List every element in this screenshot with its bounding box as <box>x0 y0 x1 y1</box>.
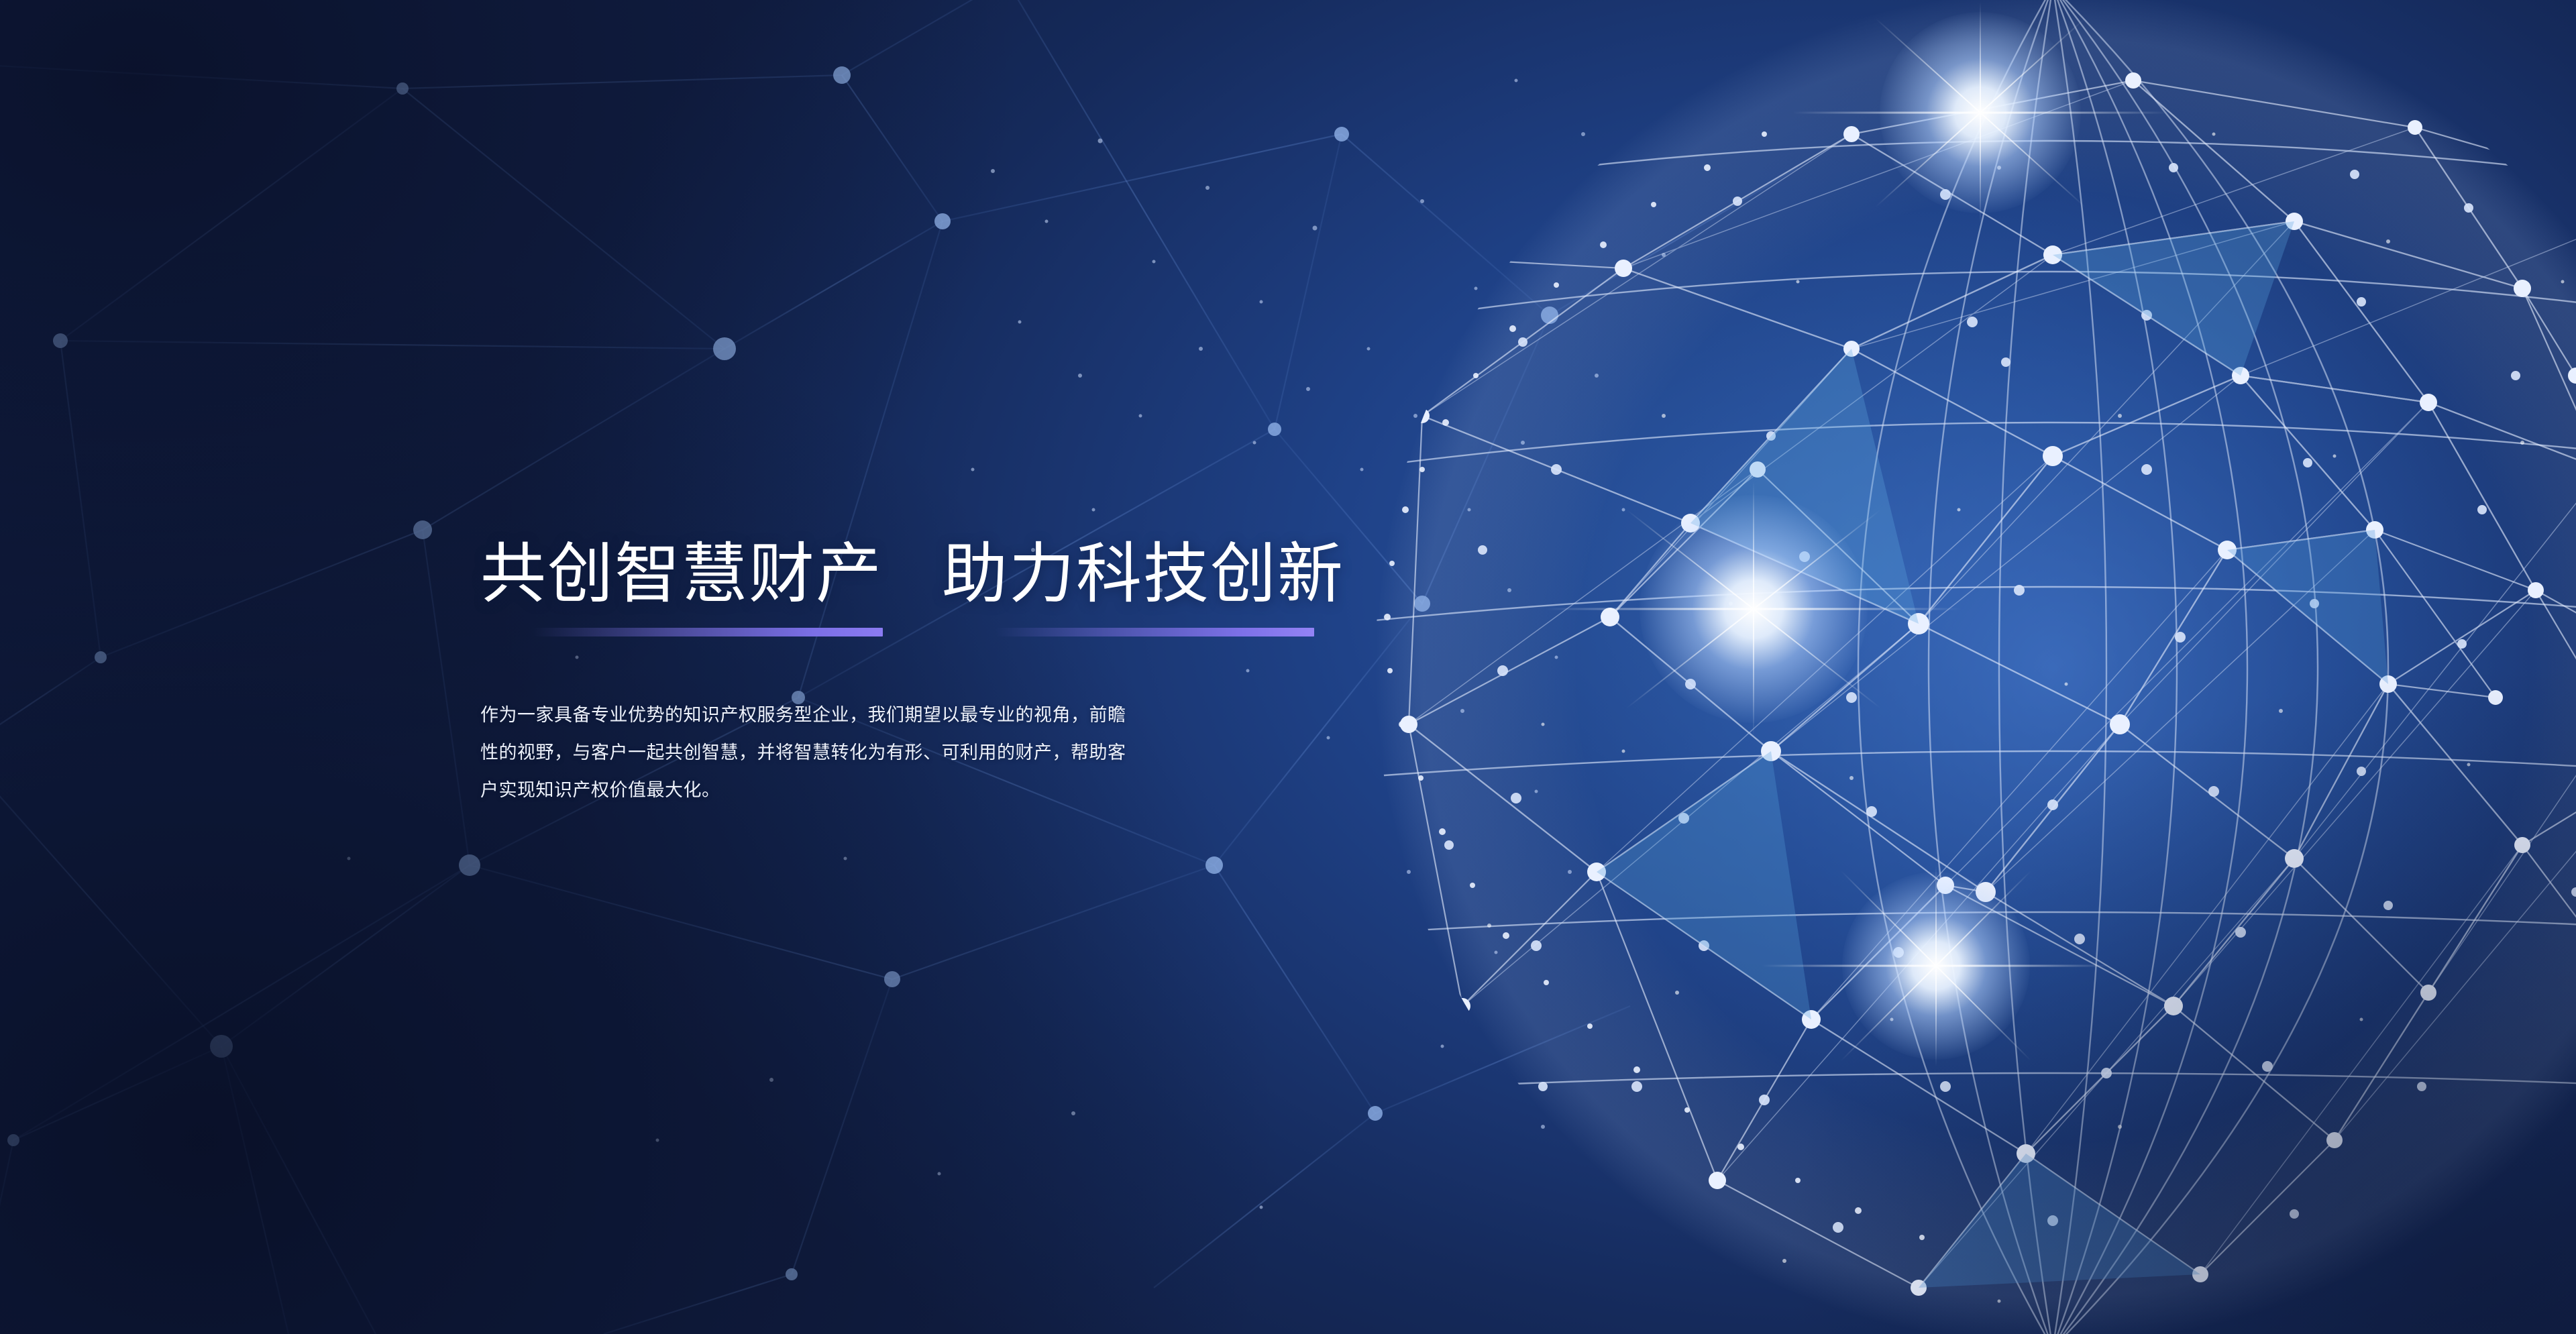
paragraph-line-3: 户实现知识产权价值最大化。 <box>480 771 1258 809</box>
headline: 共创智慧财产 助力科技创新 <box>480 541 1344 606</box>
headline-phrase-1: 共创智慧财产 <box>480 541 883 606</box>
headline-phrase-2-block: 助力科技创新 <box>942 541 1344 606</box>
headline-phrase-2: 助力科技创新 <box>942 541 1344 606</box>
headline-underline-1 <box>533 628 883 636</box>
headline-underline-2 <box>996 628 1314 636</box>
headline-phrase-1-block: 共创智慧财产 <box>480 541 883 606</box>
hero-banner: 共创智慧财产 助力科技创新 作为一家具备专业优势的知识产权服务型企业，我们期望以… <box>0 0 2576 1334</box>
paragraph-line-2: 性的视野，与客户一起共创智慧，并将智慧转化为有形、可利用的财产，帮助客 <box>480 734 1258 771</box>
paragraph-line-1: 作为一家具备专业优势的知识产权服务型企业，我们期望以最专业的视角，前瞻 <box>480 696 1258 734</box>
background-vignette <box>0 0 2576 1334</box>
intro-paragraph: 作为一家具备专业优势的知识产权服务型企业，我们期望以最专业的视角，前瞻 性的视野… <box>480 696 1258 809</box>
